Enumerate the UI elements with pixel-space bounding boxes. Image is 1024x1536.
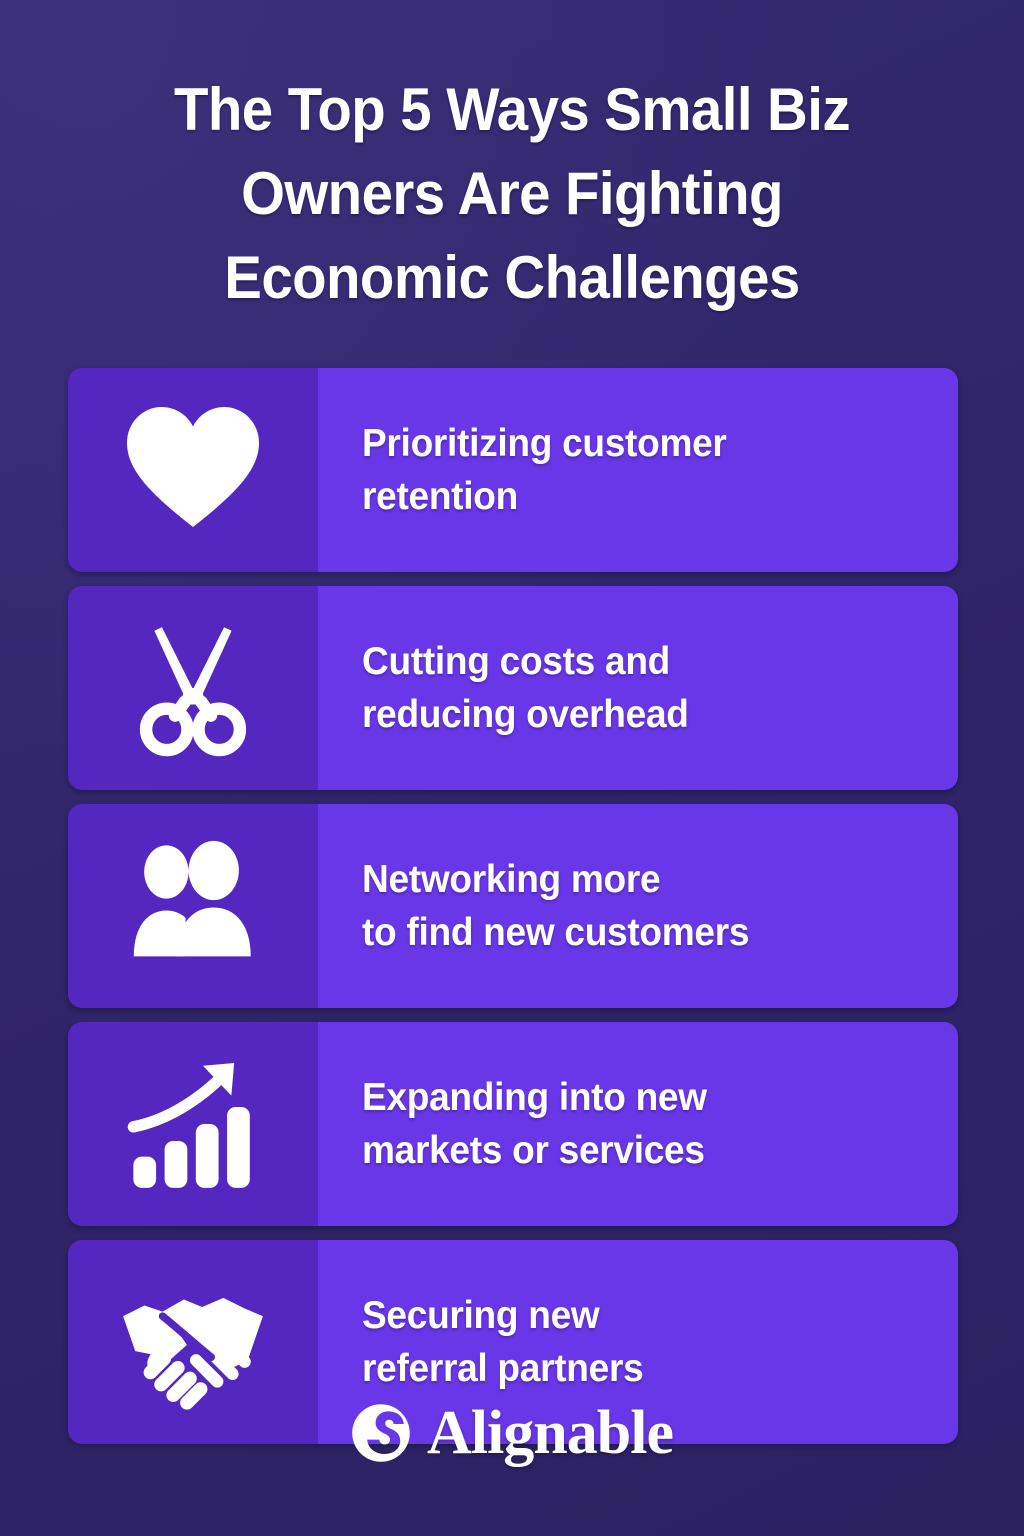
- text-panel: Expanding into new markets or services: [318, 1022, 958, 1226]
- list-item-prioritizing-customer-retention[interactable]: Prioritizing customer retention: [68, 368, 958, 572]
- heart-icon: [118, 395, 268, 545]
- icon-panel: [68, 1022, 318, 1226]
- growth-chart-icon: [122, 1053, 264, 1195]
- text-panel: Prioritizing customer retention: [318, 368, 958, 572]
- text-panel: Networking more to find new customers: [318, 804, 958, 1008]
- list-item-networking-more-to-find-new-customers[interactable]: Networking more to find new customers: [68, 804, 958, 1008]
- list-item-cutting-costs-and-reducing-overhead[interactable]: Cutting costs and reducing overhead: [68, 586, 958, 790]
- people-icon: [119, 832, 267, 980]
- text-panel: Cutting costs and reducing overhead: [318, 586, 958, 790]
- infographic-poster: The Top 5 Ways Small Biz Owners Are Figh…: [0, 0, 1024, 1536]
- list-item-label: Securing new referral partners: [362, 1289, 643, 1395]
- icon-panel: [68, 586, 318, 790]
- list-item-label: Cutting costs and reducing overhead: [362, 635, 689, 741]
- scissors-icon: [124, 619, 262, 757]
- list-item-label: Networking more to find new customers: [362, 853, 749, 959]
- list-item-label: Expanding into new markets or services: [362, 1071, 707, 1177]
- page-title: The Top 5 Ways Small Biz Owners Are Figh…: [52, 68, 972, 320]
- icon-panel: [68, 368, 318, 572]
- title-line-2: Owners Are Fighting: [80, 152, 945, 236]
- brand-logo: Alignable: [0, 1400, 1024, 1466]
- icon-panel: [68, 804, 318, 1008]
- ways-list: Prioritizing customer retention: [68, 368, 958, 1444]
- alignable-swirl-icon: [351, 1403, 411, 1463]
- title-line-1: The Top 5 Ways Small Biz: [80, 68, 945, 152]
- title-line-3: Economic Challenges: [80, 236, 945, 320]
- brand-name: Alignable: [427, 1400, 673, 1466]
- handshake-icon: [117, 1266, 269, 1418]
- list-item-label: Prioritizing customer retention: [362, 417, 727, 523]
- list-item-expanding-into-new-markets-or-services[interactable]: Expanding into new markets or services: [68, 1022, 958, 1226]
